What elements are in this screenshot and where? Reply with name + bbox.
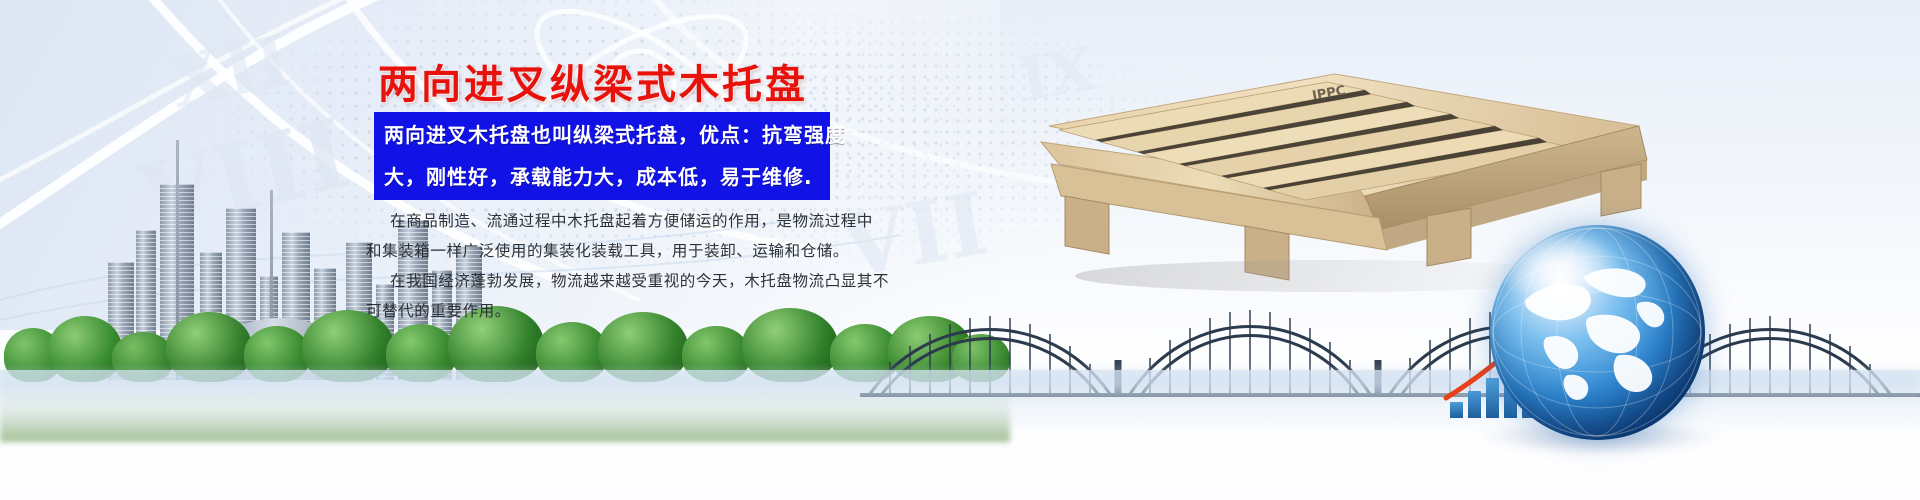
globe-graphic [1490, 225, 1705, 440]
page-title: 两向进叉纵梁式木托盘 [378, 52, 808, 110]
description-line-3: 在我国经济蓬勃发展，物流越来越受重视的今天，木托盘物流凸显其不 [366, 266, 866, 296]
highlight-callout-box: 两向进叉木托盘也叫纵梁式托盘，优点：抗弯强度 大，刚性好，承载能力大，成本低，易… [374, 112, 830, 200]
description-line-4: 可替代的重要作用。 [366, 296, 866, 326]
description-paragraph: 在商品制造、流通过程中木托盘起着方便储运的作用，是物流过程中 和集装箱一样广泛使… [366, 206, 866, 326]
highlight-line-1: 两向进叉木托盘也叫纵梁式托盘，优点：抗弯强度 [384, 114, 820, 156]
description-line-1: 在商品制造、流通过程中木托盘起着方便储运的作用，是物流过程中 [366, 206, 866, 236]
highlight-line-2: 大，刚性好，承载能力大，成本低，易于维修. [384, 156, 820, 198]
product-banner: VIII XII VII IX [0, 0, 1920, 500]
description-line-2: 和集装箱一样广泛使用的集装化装载工具，用于装卸、运输和仓储。 [366, 236, 866, 266]
